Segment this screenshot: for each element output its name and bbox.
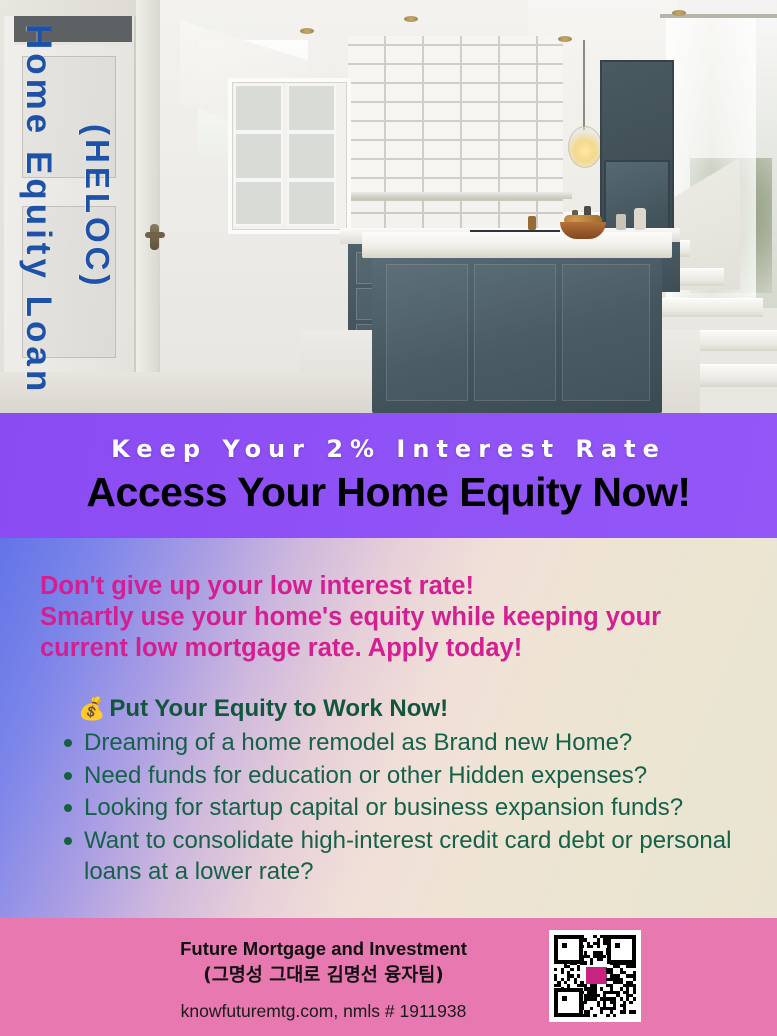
benefit-list: Dreaming of a home remodel as Brand new …: [58, 728, 758, 890]
counter-item: [528, 216, 536, 230]
qr-module: [600, 1010, 603, 1013]
cabinet-pane: [287, 132, 336, 180]
contact-line[interactable]: knowfuturemtg.com, nmls # 1911938: [0, 1001, 777, 1022]
qr-finder-top-left: [554, 935, 583, 964]
qr-finder-bottom-left: [554, 988, 583, 1017]
qr-module: [561, 987, 564, 990]
qr-code[interactable]: [549, 930, 641, 1022]
pendant-cord: [583, 40, 585, 130]
list-item: Dreaming of a home remodel as Brand new …: [58, 728, 758, 759]
footer-bar: Future Mortgage and Investment (그명성 그대로 …: [0, 918, 777, 1036]
qr-module: [567, 978, 570, 981]
vertical-title-heloc: (HELOC): [78, 124, 116, 289]
recessed-light: [672, 10, 686, 16]
door-frame: [136, 0, 158, 413]
qr-module: [633, 978, 636, 981]
island-panel: [562, 264, 650, 401]
money-bag-icon: 💰: [78, 697, 105, 722]
island-marble-top: [362, 232, 672, 258]
kitchen-island: [372, 250, 662, 413]
glass-front-cabinet: [228, 78, 351, 234]
qr-center-logo: [585, 966, 608, 985]
qr-module: [603, 955, 606, 958]
heloc-flyer: Home Equity Loan (HELOC) Keep Your 2% In…: [0, 0, 777, 1036]
qr-module: [561, 971, 564, 974]
qr-module: [590, 1007, 593, 1010]
qr-module: [606, 942, 609, 945]
list-item: Need funds for education or other Hidden…: [58, 761, 758, 792]
qr-module: [633, 991, 636, 994]
qr-module: [580, 945, 583, 948]
cabinet-pane: [287, 84, 336, 132]
lead-paragraph: Don't give up your low interest rate! Sm…: [40, 571, 730, 664]
cabinet-pane: [234, 132, 283, 180]
list-item: Looking for startup capital or business …: [58, 793, 758, 824]
qr-module: [633, 1010, 636, 1013]
qr-module: [606, 951, 609, 954]
qr-module: [593, 1014, 596, 1017]
qr-module: [587, 1014, 590, 1017]
qr-module: [567, 987, 570, 990]
equity-section-heading: 💰Put Your Equity to Work Now!: [78, 695, 448, 723]
qr-module: [590, 945, 593, 948]
vertical-title-home-equity-loan: Home Equity Loan: [18, 24, 58, 395]
door-handle: [145, 232, 165, 238]
counter-item: [634, 208, 646, 230]
qr-module: [613, 1014, 616, 1017]
equity-section-heading-label: Put Your Equity to Work Now!: [109, 695, 448, 722]
banner-kicker-text: Keep Your 2% Interest Rate: [111, 435, 666, 463]
qr-module: [554, 968, 557, 971]
qr-module: [577, 968, 580, 971]
recessed-light: [300, 28, 314, 34]
kitchen-hero-photo: Home Equity Loan (HELOC): [0, 0, 777, 413]
qr-module: [623, 1010, 626, 1013]
cabinet-pane: [234, 84, 283, 132]
banner-main-title: Access Your Home Equity Now!: [86, 469, 690, 516]
qr-code-grid: [554, 935, 636, 1017]
qr-module: [577, 974, 580, 977]
range-hood: [348, 36, 563, 201]
lead-line-3: current low mortgage rate. Apply today!: [40, 633, 730, 664]
qr-module: [613, 1007, 616, 1010]
qr-module: [600, 958, 603, 961]
list-item: Want to consolidate high-interest credit…: [58, 826, 758, 887]
company-name: Future Mortgage and Investment: [0, 938, 777, 960]
qr-module: [584, 1001, 587, 1004]
qr-module: [570, 968, 573, 971]
body-section: Don't give up your low interest rate! Sm…: [0, 538, 777, 918]
recessed-light: [558, 36, 572, 42]
cabinet-pane: [234, 180, 283, 226]
hood-shelf: [340, 192, 572, 199]
island-panel: [386, 264, 468, 401]
cabinet-pane: [287, 180, 336, 226]
qr-module: [584, 961, 587, 964]
pendant-light-bulb: [568, 126, 602, 168]
qr-module: [590, 961, 593, 964]
lead-line-1: Don't give up your low interest rate!: [40, 571, 730, 602]
qr-module: [633, 997, 636, 1000]
recessed-light: [404, 16, 418, 22]
counter-item: [616, 214, 626, 230]
qr-module: [629, 1001, 632, 1004]
qr-module: [633, 965, 636, 968]
company-name-korean: (그명성 그대로 김명선 융자팀): [0, 961, 777, 987]
qr-module: [597, 945, 600, 948]
headline-banner: Keep Your 2% Interest Rate Access Your H…: [0, 413, 777, 538]
lead-line-2: Smartly use your home's equity while kee…: [40, 602, 730, 633]
qr-finder-top-right: [607, 935, 636, 964]
qr-module: [606, 1014, 609, 1017]
island-panel: [474, 264, 556, 401]
